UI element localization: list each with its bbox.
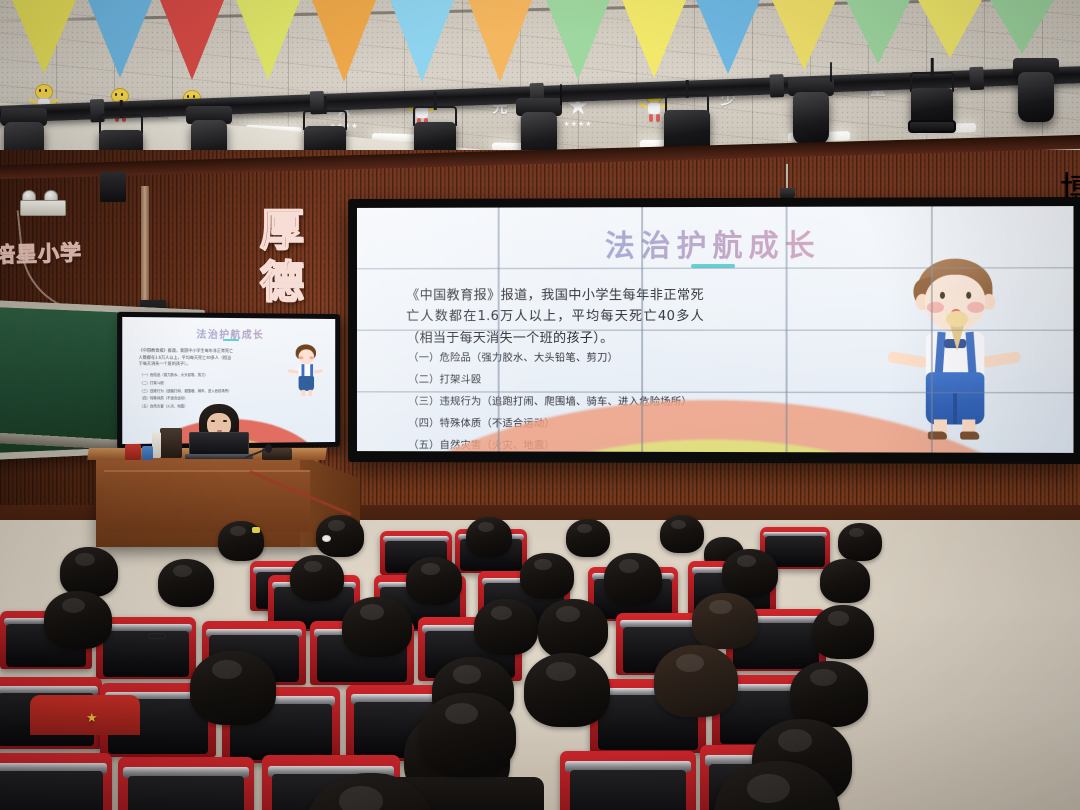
student-shoulders (30, 695, 140, 735)
auditorium-photo: 阳 ★ ★★★★ 光 ★ ★★★★ 少 (0, 0, 1080, 810)
hair-tie (322, 535, 331, 542)
student-head (474, 599, 538, 655)
pennant-flag (390, 0, 454, 82)
student-head (466, 517, 512, 557)
emergency-light-icon (20, 190, 66, 216)
laptop-screen (189, 432, 249, 455)
presentation-slide: 法治护航成长 《中国教育报》报道，我国中小学生每年非正常死亡人数都在1.6万人以… (357, 206, 1074, 453)
student-head (520, 553, 574, 599)
laptop[interactable] (185, 432, 253, 460)
pennant-flag: ★ (990, 0, 1054, 54)
list-item: （一）危险品（强力胶水、大头铅笔、剪刀） (140, 374, 270, 378)
pennant-flag (160, 0, 224, 80)
wall-speaker (100, 172, 126, 202)
desk-equipment (160, 428, 182, 458)
light-cable (560, 84, 562, 106)
pennant-flag (88, 0, 152, 78)
desk-bottle (152, 432, 161, 458)
seat (0, 753, 112, 810)
desk-red-box (125, 444, 141, 460)
student-head (44, 591, 112, 649)
list-item: （二）打架斗殴 (408, 375, 826, 386)
video-wall-screen: 法治护航成长 《中国教育报》报道，我国中小学生每年非正常死亡人数都在1.6万人以… (357, 206, 1074, 453)
pennant-flag: ★ ★★★★ (546, 0, 610, 80)
eyeglasses (148, 633, 166, 639)
list-item: （三）违规行为（追跑打闹、爬围墙、骑车、进入危险场所） (140, 390, 270, 394)
student-head (660, 515, 704, 553)
student-head (838, 523, 882, 561)
star-rating-icon: ★★★★ (562, 120, 594, 128)
student-head (604, 553, 662, 605)
student-head (812, 605, 874, 659)
wall-conduit (141, 186, 149, 302)
pennant-flag: 年 (772, 0, 836, 70)
star-emblem-icon: ★ (86, 711, 98, 724)
slide-title-underline (691, 264, 735, 268)
student-head (190, 651, 276, 725)
pennant-flag: ★ ★★★★ (312, 0, 376, 82)
student-head (654, 645, 738, 717)
monitor-body-text: 《中国教育报》报道，我国中小学生每年非正常死亡人数都在1.6万人以上，平均每天死… (139, 348, 235, 368)
student-head (342, 597, 412, 657)
seat (118, 757, 254, 810)
microphone (244, 438, 270, 460)
student-head (566, 519, 610, 557)
pennant-flag (622, 0, 686, 78)
motto-char-2: 德 (252, 257, 312, 309)
audience-seating: ★ (0, 505, 1080, 810)
pennant-flag: 少 (696, 0, 760, 74)
student-head (406, 557, 462, 605)
pennant-flag: 光 (468, 0, 532, 82)
student-head (790, 661, 868, 727)
motto-char-1: 厚 (252, 205, 312, 257)
pennant-flag: 星 (918, 0, 982, 58)
desk-blue-box (142, 446, 153, 460)
student-head (820, 559, 870, 603)
student-head (158, 559, 214, 607)
monitor-title-underline (223, 339, 239, 341)
slide-body-text: 《中国教育报》报道，我国中小学生每年非正常死亡人数都在1.6万人以上，平均每天死… (406, 285, 704, 349)
student-head (420, 693, 516, 775)
student-head (60, 547, 118, 597)
seat (560, 751, 696, 810)
cartoon-boy-illustration (896, 259, 1015, 438)
light-cable (830, 62, 832, 82)
wall-motto-sign: 厚 德 (252, 205, 312, 309)
list-item: （一）危险品（强力胶水、大头铅笔、剪刀） (408, 353, 826, 364)
student-head (538, 599, 608, 659)
list-item: （二）打架斗殴 (140, 382, 270, 385)
pennant-flag: 童 (846, 0, 910, 64)
monitor-cartoon-boy (289, 344, 322, 401)
student-head (692, 593, 758, 649)
pennant-flag (12, 0, 76, 74)
camera-stem (786, 164, 788, 190)
student-head (290, 555, 344, 601)
student-head (722, 549, 778, 597)
led-video-wall[interactable]: 法治护航成长 《中国教育报》报道，我国中小学生每年非正常死亡人数都在1.6万人以… (348, 197, 1080, 464)
student-head (524, 653, 610, 727)
laptop-keyboard (185, 454, 253, 459)
pennant-flag: 阳 (236, 0, 300, 80)
hair-clip (252, 527, 260, 533)
list-item: （四）特殊体质（不适合运动） (140, 397, 270, 401)
